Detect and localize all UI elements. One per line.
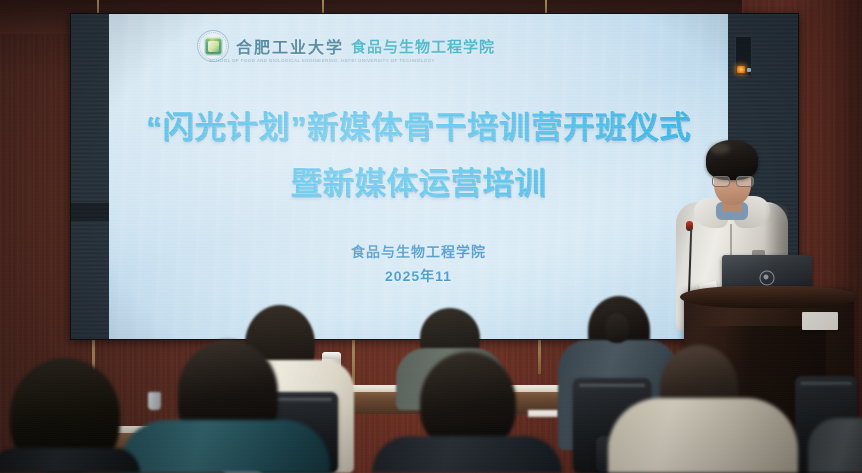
attendee-black-jacket xyxy=(0,448,140,473)
wall-seam xyxy=(538,338,541,374)
glasses-lens-right xyxy=(736,176,754,187)
lectern-nameplate xyxy=(802,312,838,330)
presentation-photo: 合肥工业大学 食品与生物工程学院 SCHOOL OF FOOD AND BIOL… xyxy=(0,0,862,473)
slide-title-line-2: 暨新媒体运营培训 xyxy=(109,158,728,203)
chair-headrest-rail xyxy=(800,382,852,386)
lectern-top-surface xyxy=(680,286,858,308)
secondary-led-icon xyxy=(747,68,751,72)
slide-title-line-1: “闪光计划”新媒体骨干培训营开班仪式 xyxy=(109,102,728,147)
college-name: 食品与生物工程学院 xyxy=(351,36,495,57)
microphone-icon xyxy=(686,221,693,231)
slide-date: 2025年11 xyxy=(109,266,728,286)
paper-on-desk xyxy=(528,410,558,417)
amber-status-led xyxy=(737,66,745,73)
paper-cup xyxy=(148,392,161,410)
chair-headrest-rail xyxy=(579,384,645,388)
screen-status-device xyxy=(735,36,752,76)
slide-organizer: 食品与生物工程学院 xyxy=(109,242,728,262)
attendee-head xyxy=(605,313,629,343)
emblem-core xyxy=(204,37,223,56)
attendee-gray-top xyxy=(808,418,862,473)
glasses-icon xyxy=(712,176,754,185)
university-english-name: SCHOOL OF FOOD AND BIOLOGICAL ENGINEERIN… xyxy=(209,58,435,63)
attendee-dark-navy xyxy=(372,436,562,473)
presenter-hair xyxy=(706,140,758,180)
thermos-cap xyxy=(322,352,341,359)
university-name: 合肥工业大学 xyxy=(236,34,344,58)
laptop-logo-icon xyxy=(760,270,775,285)
glasses-lens-left xyxy=(712,176,730,187)
presentation-slide: 合肥工业大学 食品与生物工程学院 SCHOOL OF FOOD AND BIOL… xyxy=(109,14,728,339)
attendee-teal-jacket xyxy=(120,420,330,473)
screen-bezel-left xyxy=(71,14,109,339)
attendee-beige-hoodie xyxy=(608,398,798,473)
